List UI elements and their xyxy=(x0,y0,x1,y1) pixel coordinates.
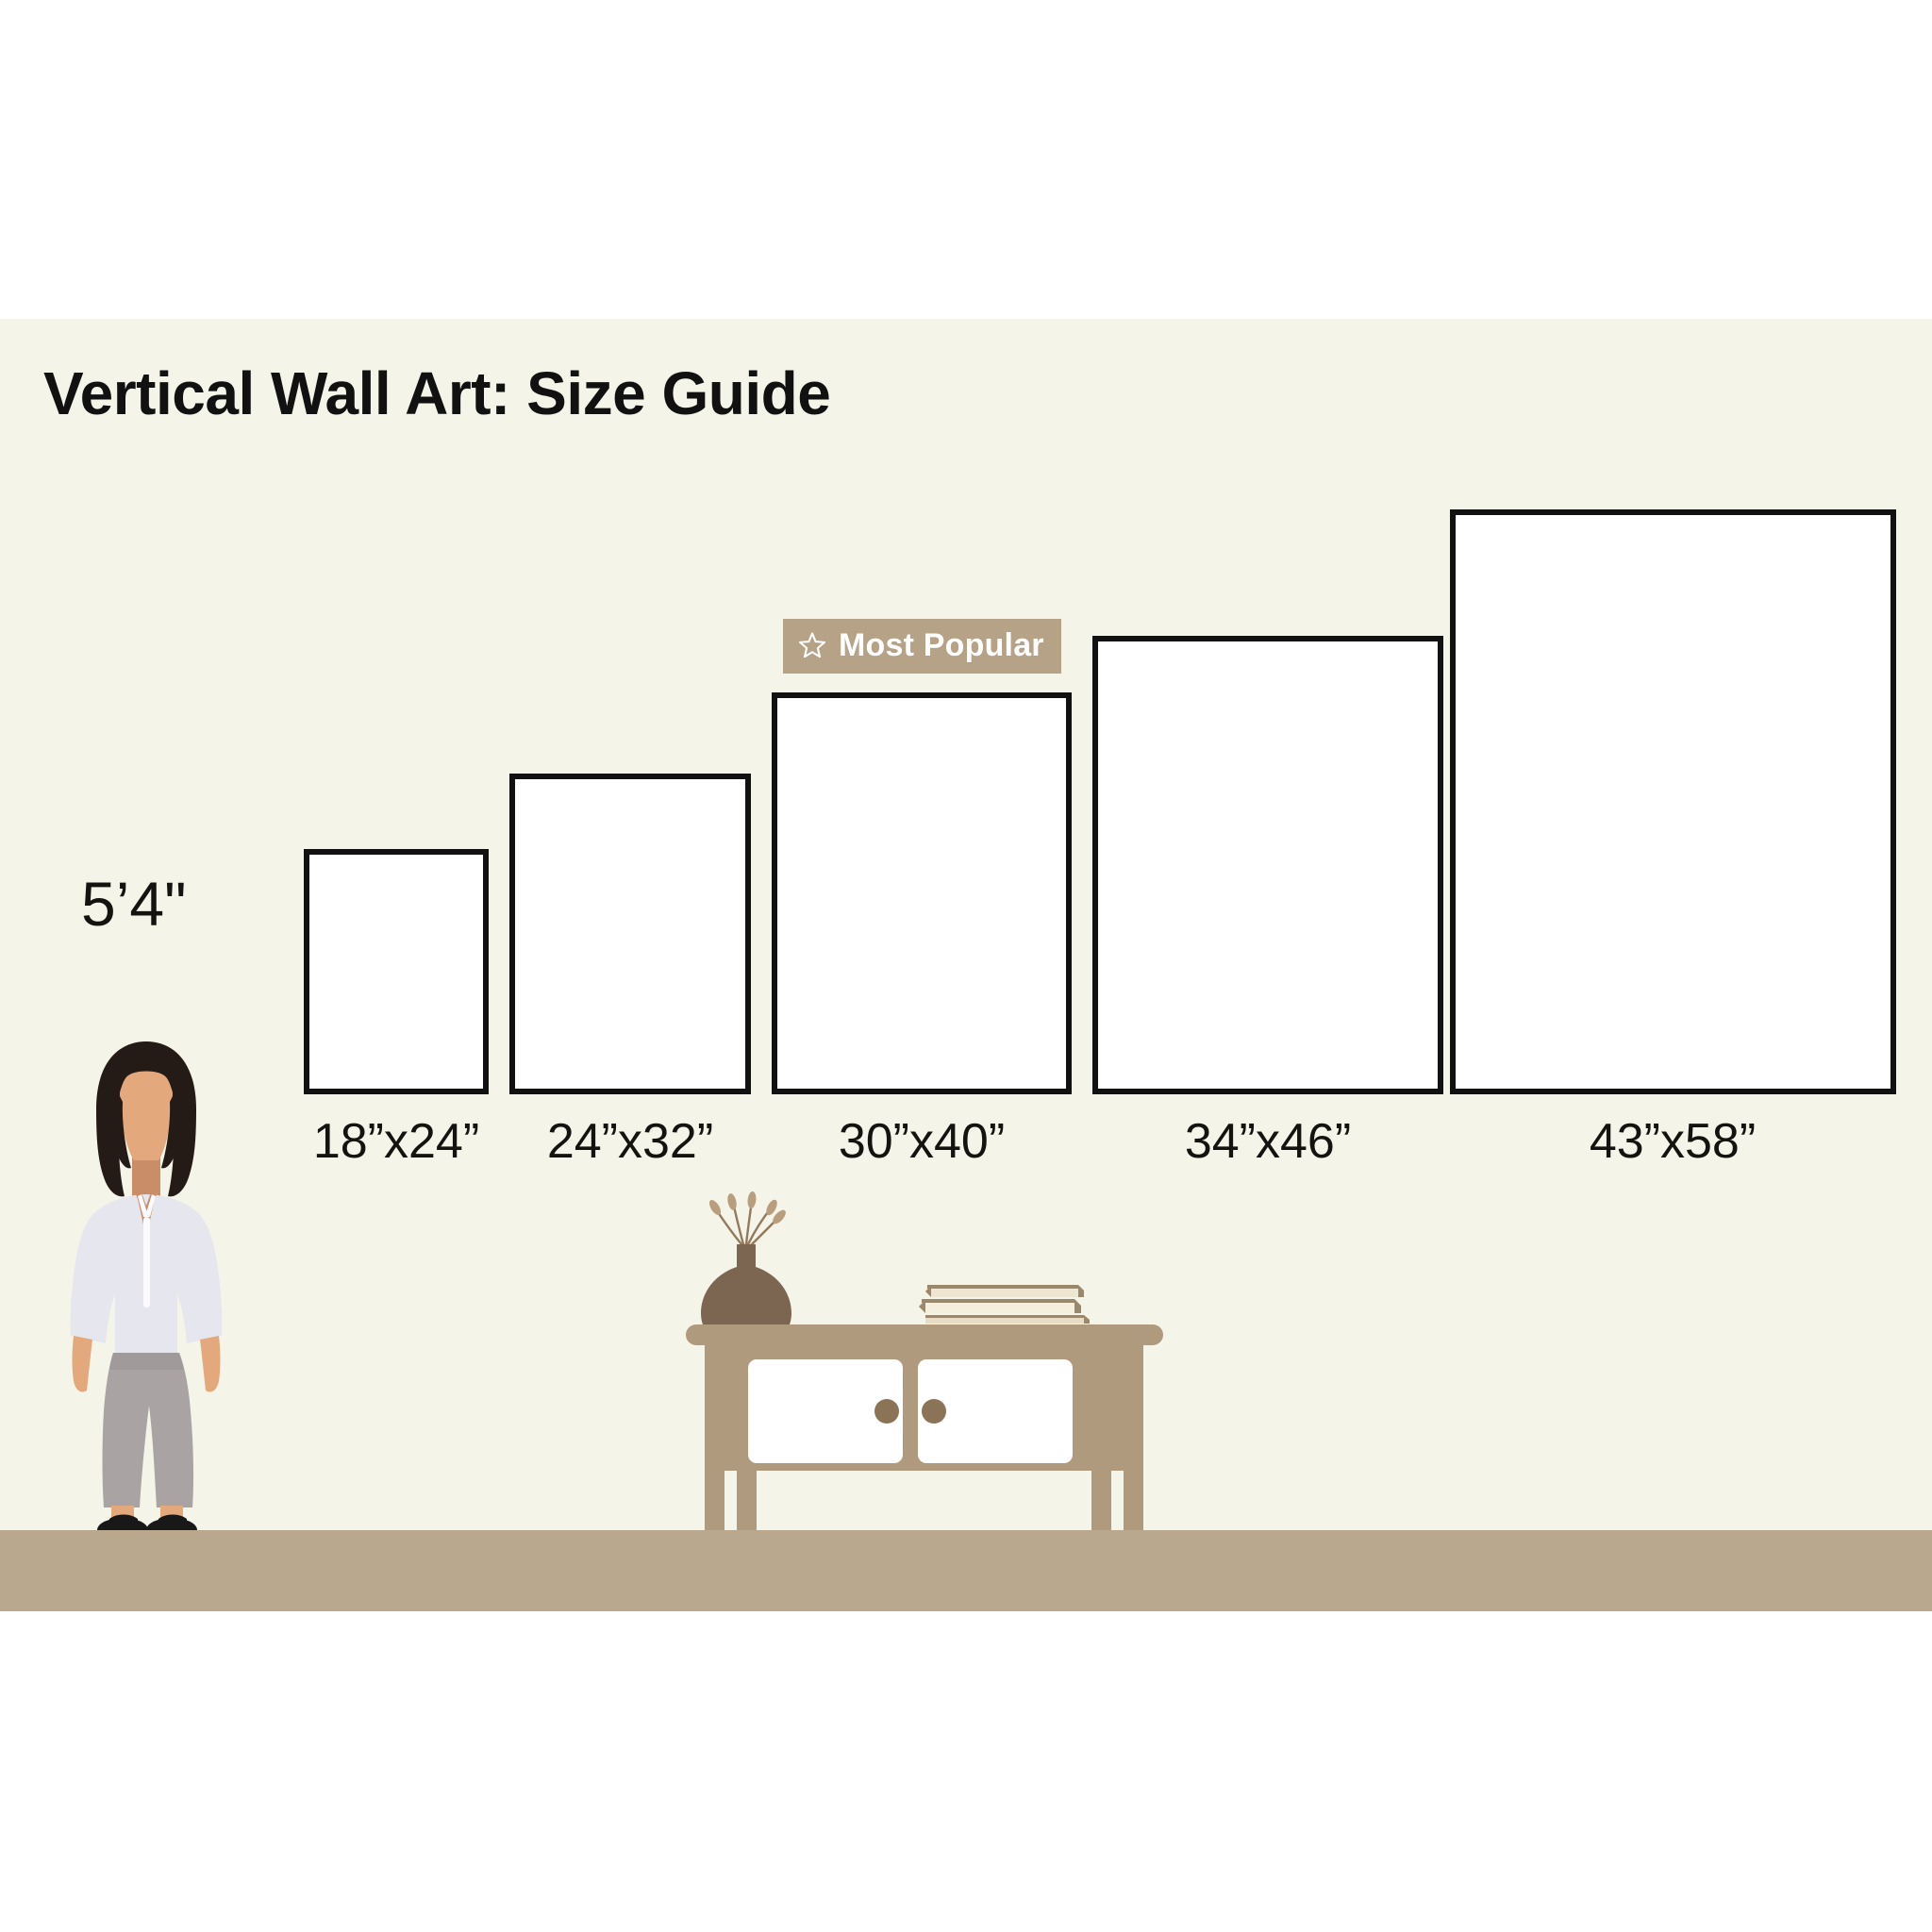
height-reference-label: 5’4" xyxy=(81,868,187,940)
frame-preview-24x32[interactable] xyxy=(509,774,751,1094)
woman-figure xyxy=(38,1036,255,1545)
frame-label-43x58: 43”x58” xyxy=(1590,1113,1756,1170)
size-guide-infographic: Vertical Wall Art: Size Guide 5’4" 18”x2… xyxy=(0,0,1932,1932)
frame-label-34x46: 34”x46” xyxy=(1185,1113,1351,1170)
frame-preview-43x58[interactable] xyxy=(1450,509,1896,1094)
frame-preview-30x40[interactable] xyxy=(772,692,1072,1094)
scene-panel: Vertical Wall Art: Size Guide 5’4" 18”x2… xyxy=(0,319,1932,1611)
floor-band xyxy=(0,1530,1932,1611)
most-popular-badge[interactable]: Most Popular xyxy=(783,619,1061,674)
page-title: Vertical Wall Art: Size Guide xyxy=(43,358,830,428)
cabinet-knob-right xyxy=(922,1399,946,1424)
star-outline-icon xyxy=(798,631,826,659)
frame-preview-34x46[interactable] xyxy=(1092,636,1443,1094)
cabinet-knob-left xyxy=(874,1399,899,1424)
book-stack xyxy=(919,1285,1090,1324)
most-popular-badge-label: Most Popular xyxy=(839,629,1044,661)
frame-label-30x40: 30”x40” xyxy=(839,1113,1005,1170)
frame-preview-18x24[interactable] xyxy=(304,849,489,1094)
frame-label-18x24: 18”x24” xyxy=(313,1113,479,1170)
frame-label-24x32: 24”x32” xyxy=(547,1113,713,1170)
